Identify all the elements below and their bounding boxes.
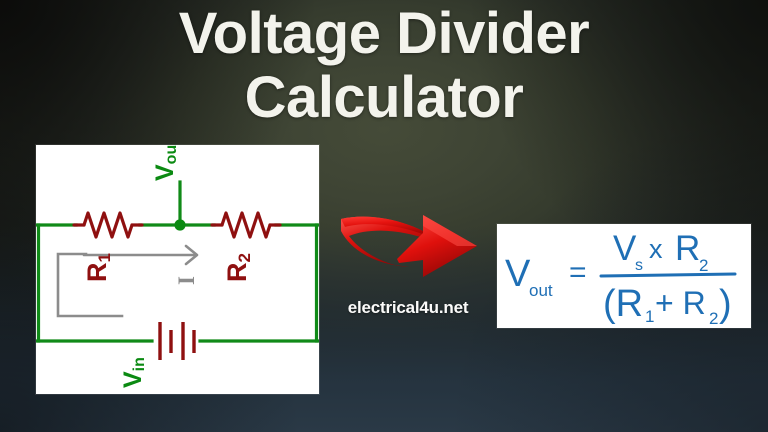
svg-text:(R: (R xyxy=(603,283,643,325)
output-node-dot xyxy=(174,219,185,230)
red-arrow-icon xyxy=(337,207,485,285)
battery-vin-symbol xyxy=(160,322,194,360)
svg-text:out: out xyxy=(529,281,553,300)
label-r2: R2 xyxy=(222,253,254,282)
resistor-r2 xyxy=(212,213,280,237)
formula-fraction-bar xyxy=(601,274,735,276)
page-title: Voltage Divider Calculator xyxy=(0,2,768,130)
page-title-line-1: Voltage Divider xyxy=(0,2,768,66)
page-title-line-2: Calculator xyxy=(0,66,768,130)
svg-text:s: s xyxy=(635,257,643,274)
svg-text:1: 1 xyxy=(645,307,654,326)
formula-denominator: (R 1 + R 2 ) xyxy=(603,283,732,328)
svg-text:R: R xyxy=(675,229,700,268)
svg-text:V: V xyxy=(505,253,531,295)
svg-text:): ) xyxy=(719,283,732,325)
label-r1: R1 xyxy=(82,253,114,282)
resistor-r1 xyxy=(74,213,142,237)
slide-canvas: Voltage Divider Calculator xyxy=(0,0,768,432)
svg-text:V: V xyxy=(613,229,637,268)
formula-card: V out = V s x R 2 (R 1 + R 2 ) xyxy=(497,224,751,328)
website-label: electrical4u.net xyxy=(322,298,494,318)
svg-text:2: 2 xyxy=(699,256,708,275)
label-vin: Vin xyxy=(119,357,148,388)
formula-lhs: V out xyxy=(505,253,553,300)
circuit-diagram-card: Vout R1 R2 Vin I xyxy=(36,145,319,394)
formula-equals: = xyxy=(569,256,587,289)
label-vout: Vout xyxy=(151,145,180,181)
formula-numerator: V s x R 2 xyxy=(613,229,708,275)
svg-text:x: x xyxy=(649,234,663,264)
svg-text:+ R: + R xyxy=(655,285,706,321)
svg-text:2: 2 xyxy=(709,309,718,328)
label-current: I xyxy=(174,276,199,285)
